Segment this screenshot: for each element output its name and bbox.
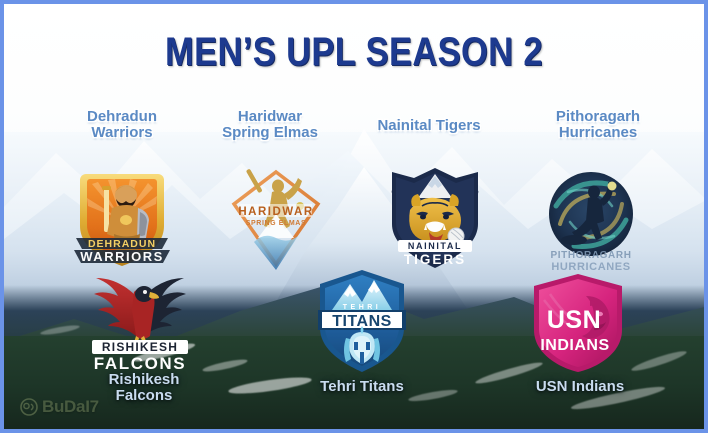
- dehradun-banner: DEHRADUN WARRIORS: [74, 238, 170, 264]
- svg-text:PITHORAGARH: PITHORAGARH: [550, 250, 631, 261]
- pithoragarh-hurricanes-logo[interactable]: PITHORAGARH HURRICANES: [538, 162, 644, 274]
- poster-canvas: MEN’S UPL SEASON 2 Dehradun Warriors Har…: [0, 0, 708, 433]
- svg-text:TEHRI: TEHRI: [343, 304, 382, 311]
- team-label-dehradun-warriors: Dehradun Warriors: [52, 109, 192, 141]
- team-label-nainital-tigers: Nainital Tigers: [354, 118, 504, 134]
- rishikesh-falcons-logo[interactable]: RISHIKESH FALCONS: [86, 270, 194, 374]
- poster-title: MEN’S UPL SEASON 2: [53, 30, 655, 75]
- team-label-haridwar-spring-elmas: Haridwar Spring Elmas: [190, 109, 350, 141]
- haridwar-spring-elmas-logo[interactable]: HARIDWAR SPRING ELMAS: [226, 164, 326, 270]
- team-label-pithoragarh-hurricanes: Pithoragarh Hurricanes: [518, 109, 678, 141]
- watermark: BuDaI7: [20, 397, 99, 417]
- team-label-tehri-titans: Tehri Titans: [292, 379, 432, 395]
- svg-text:SPRING ELMAS: SPRING ELMAS: [246, 220, 306, 227]
- team-label-usn-indians: USN Indians: [510, 379, 650, 395]
- svg-text:WARRIORS: WARRIORS: [80, 249, 164, 264]
- svg-text:INDIANS: INDIANS: [540, 337, 609, 354]
- svg-text:TIGERS: TIGERS: [404, 252, 466, 267]
- watermark-icon: [20, 398, 38, 416]
- nainital-tigers-logo[interactable]: NAINITAL TIGERS: [382, 162, 488, 274]
- svg-text:RISHIKESH: RISHIKESH: [102, 340, 178, 354]
- dehradun-warriors-logo[interactable]: DEHRADUN WARRIORS: [68, 162, 176, 272]
- usn-indians-logo[interactable]: USN INDIANS: [528, 270, 628, 376]
- svg-text:HARIDWAR: HARIDWAR: [238, 206, 313, 218]
- tehri-titans-logo[interactable]: TEHRI TITANS: [312, 266, 412, 376]
- watermark-text: BuDaI7: [42, 397, 99, 417]
- falcon-figure: [94, 278, 186, 347]
- svg-text:NAINITAL: NAINITAL: [408, 241, 462, 251]
- svg-text:USN: USN: [547, 306, 601, 334]
